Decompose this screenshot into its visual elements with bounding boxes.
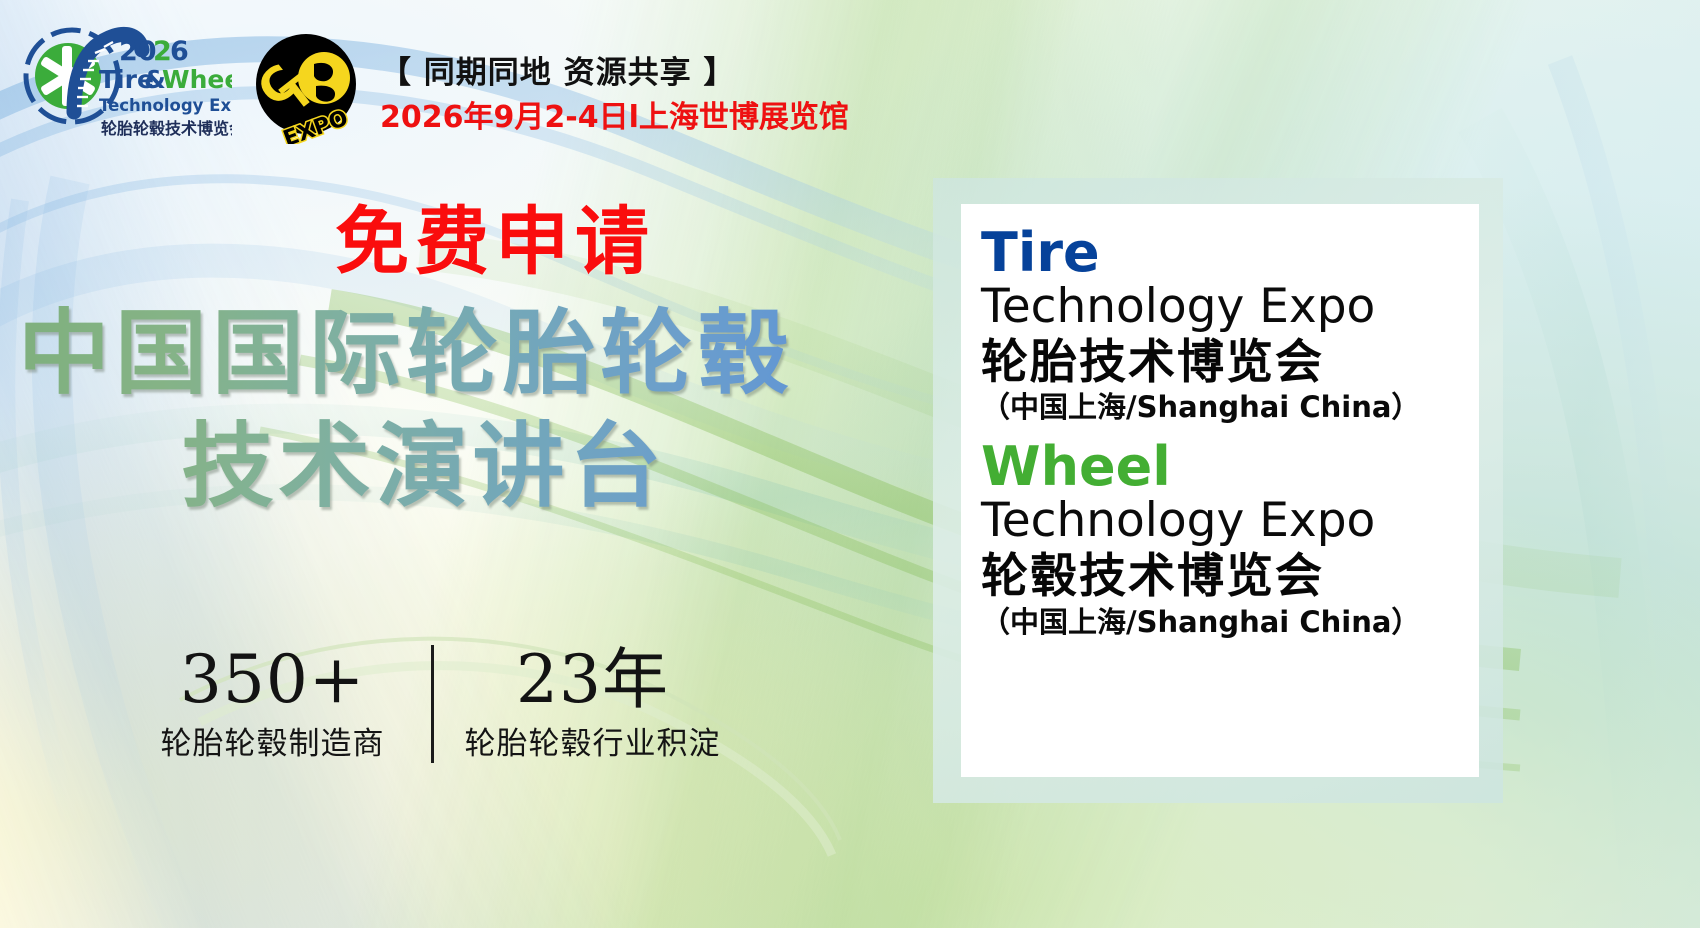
tire-brand-word: Tire xyxy=(981,226,1479,280)
citexpo-logo: C T EXPO xyxy=(250,32,362,144)
tire-wheel-logo-icon: 20 2 6 Tire & Wheel Technology Expo 轮胎轮毂… xyxy=(22,16,232,156)
svg-text:2: 2 xyxy=(153,36,172,67)
svg-text:Wheel: Wheel xyxy=(162,65,232,94)
citexpo-logo-icon: C T EXPO xyxy=(250,32,362,144)
tire-expo-brand-group: Tire Technology Expo 轮胎技术博览会 （中国上海/Shang… xyxy=(981,226,1479,424)
tire-brand-location: （中国上海/Shanghai China） xyxy=(981,391,1479,424)
promotional-banner: 20 2 6 Tire & Wheel Technology Expo 轮胎轮毂… xyxy=(0,0,1700,928)
header-text-block: 【 同期同地 资源共享 】 2026年9月2-4日l上海世博展览馆 xyxy=(380,54,849,137)
main-headline: 中国国际轮胎轮毂 技术演讲台 xyxy=(0,301,950,520)
banner-header: 20 2 6 Tire & Wheel Technology Expo 轮胎轮毂… xyxy=(0,0,849,156)
svg-text:Technology Expo: Technology Expo xyxy=(99,96,232,115)
statistics-row: 350+ 轮胎轮毂制造商 23年 轮胎轮毂行业积淀 xyxy=(120,645,745,763)
expo-brand-panel: Tire Technology Expo 轮胎技术博览会 （中国上海/Shang… xyxy=(961,204,1479,777)
free-apply-headline: 免费申请 xyxy=(0,205,950,279)
headline-line-2: 技术演讲台 xyxy=(18,414,950,521)
wheel-expo-brand-group: Wheel Technology Expo 轮毂技术博览会 （中国上海/Shan… xyxy=(981,440,1479,638)
svg-text:20: 20 xyxy=(119,36,157,67)
tire-wheel-expo-logo: 20 2 6 Tire & Wheel Technology Expo 轮胎轮毂… xyxy=(22,16,232,156)
svg-text:轮胎轮毂技术博览会: 轮胎轮毂技术博览会 xyxy=(101,119,232,138)
stat-manufacturers: 350+ 轮胎轮毂制造商 xyxy=(120,645,425,763)
stats-divider xyxy=(431,645,434,763)
wheel-brand-subtitle-en: Technology Expo xyxy=(981,496,1479,547)
headline-line-1: 中国国际轮胎轮毂 xyxy=(18,301,950,408)
stat-years: 23年 轮胎轮毂行业积淀 xyxy=(440,645,745,763)
stat-label: 轮胎轮毂制造商 xyxy=(120,718,425,763)
main-content-left: 免费申请 中国国际轮胎轮毂 技术演讲台 xyxy=(0,205,950,520)
header-date-venue: 2026年9月2-4日l上海世博展览馆 xyxy=(380,98,849,137)
wheel-brand-word: Wheel xyxy=(981,440,1479,494)
tire-brand-subtitle-en: Technology Expo xyxy=(981,282,1479,333)
wheel-brand-location: （中国上海/Shanghai China） xyxy=(981,606,1479,639)
stat-value: 23年 xyxy=(440,645,745,714)
wheel-brand-subtitle-cn: 轮毂技术博览会 xyxy=(981,551,1479,603)
tire-brand-subtitle-cn: 轮胎技术博览会 xyxy=(981,337,1479,389)
stat-value: 350+ xyxy=(120,645,425,714)
stat-label: 轮胎轮毂行业积淀 xyxy=(440,718,745,763)
expo-brand-panel-frame: Tire Technology Expo 轮胎技术博览会 （中国上海/Shang… xyxy=(933,178,1503,803)
header-tagline: 【 同期同地 资源共享 】 xyxy=(380,54,849,94)
svg-text:6: 6 xyxy=(170,36,189,67)
